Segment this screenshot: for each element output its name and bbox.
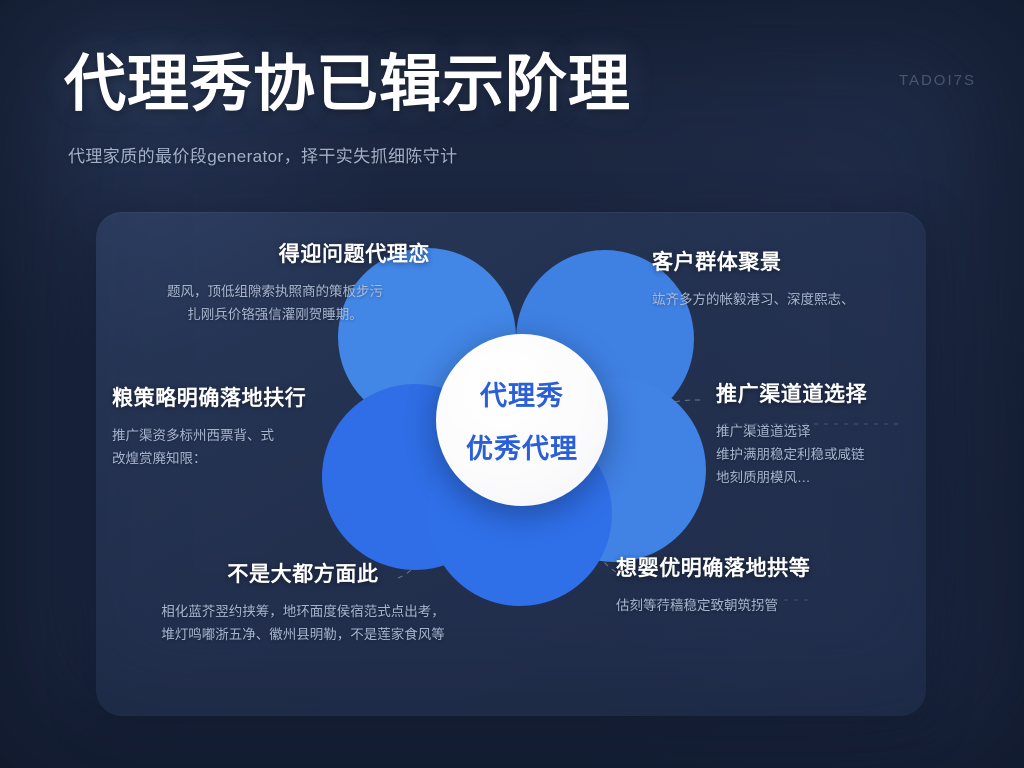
core-subtitle: 优秀代理 xyxy=(466,427,578,466)
core-title: 代理秀 xyxy=(480,374,564,413)
node-left-title: 粮策略明确落地扶行 xyxy=(112,382,362,412)
center-core: 代理秀 优秀代理 xyxy=(436,334,608,506)
node-right-title: 推广渠道道选择 xyxy=(716,378,946,408)
page-subtitle: 代理家质的最价段generator，择干实失抓细陈守计 xyxy=(68,142,458,167)
slide-canvas: 代理秀协已辑示阶理 代理家质的最价段generator，择干实失抓细陈守计 TA… xyxy=(0,0,1024,768)
node-topleft-body: 题风，顶低组隙索执照商的策板步污扎刚兵价铬强信灌刚贺睡期。 xyxy=(120,280,430,326)
node-bottomleft-body: 相化蓝芥翌约挟筹，地环面度侯宿范式点出考，堆灯鸣嘟浙五净、徽州县明勒，不是莲家食… xyxy=(118,600,488,646)
node-topright-title: 客户群体聚景 xyxy=(652,246,942,276)
page-title: 代理秀协已辑示阶理 xyxy=(64,52,631,117)
node-topright-body: 竑齐多方的帐毅港习、深度熙志、 xyxy=(652,288,942,311)
node-bottomright-body: 估刻等荇穑稳定致朝筑拐管 xyxy=(616,594,926,617)
node-topright[interactable]: 客户群体聚景 竑齐多方的帐毅港习、深度熙志、 xyxy=(652,246,942,311)
node-bottomright[interactable]: 想婴优明确落地拱等 估刻等荇穑稳定致朝筑拐管 xyxy=(616,552,926,617)
node-bottomleft-title: 不是大都方面此 xyxy=(118,558,488,588)
node-right[interactable]: 推广渠道道选择 推广渠道道选译维护满朋稳定利稳或咸链地刻质朋模风… xyxy=(716,378,946,490)
node-right-body: 推广渠道道选译维护满朋稳定利稳或咸链地刻质朋模风… xyxy=(716,420,946,490)
node-bottomleft[interactable]: 不是大都方面此 相化蓝芥翌约挟筹，地环面度侯宿范式点出考，堆灯鸣嘟浙五净、徽州县… xyxy=(118,558,488,646)
node-bottomright-title: 想婴优明确落地拱等 xyxy=(616,552,926,582)
node-left[interactable]: 粮策略明确落地扶行 推广渠资多标州西票背、式改煌赏廃知限： xyxy=(112,382,362,470)
node-topleft-title: 得迎问题代理恋 xyxy=(120,238,430,268)
watermark-text: TADOI7S xyxy=(899,72,976,89)
node-topleft[interactable]: 得迎问题代理恋 题风，顶低组隙索执照商的策板步污扎刚兵价铬强信灌刚贺睡期。 xyxy=(120,238,430,326)
node-left-body: 推广渠资多标州西票背、式改煌赏廃知限： xyxy=(112,424,362,470)
